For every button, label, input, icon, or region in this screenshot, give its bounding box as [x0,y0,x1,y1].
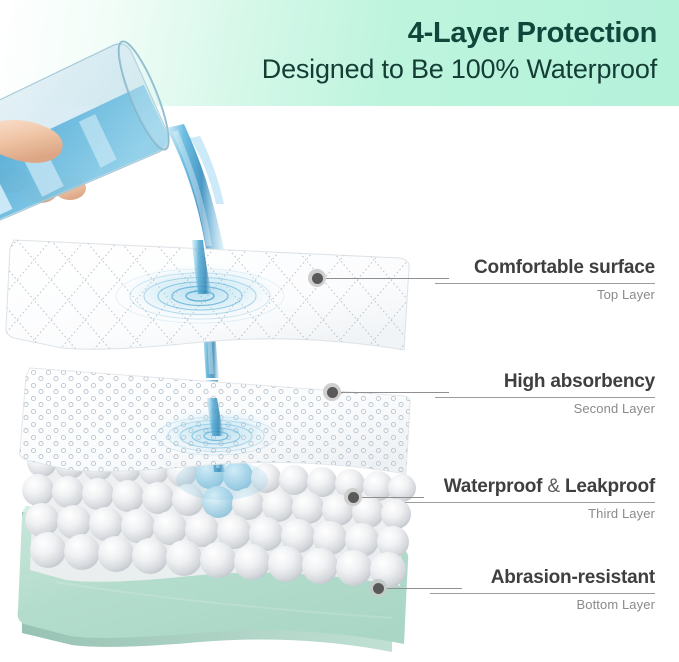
callout-bottom-layer: Abrasion-resistant Bottom Layer [430,566,655,613]
page-title: 4-Layer Protection [408,17,657,50]
callout-top-layer: Comfortable surface Top Layer [435,256,655,303]
callout-title-top-layer: Comfortable surface [435,256,655,279]
callout-title-bottom-layer: Abrasion-resistant [430,566,655,589]
callout-divider [405,502,655,503]
callout-divider [435,397,655,398]
callout-dot-third-layer[interactable] [344,488,362,506]
callout-title-third-layer-part1: Waterproof [444,476,548,497]
leader-line-second-layer [341,392,449,393]
four-layer-exploded-diagram [0,200,430,657]
hand-thumb [0,120,63,163]
callout-divider [435,283,655,284]
callout-sublabel-bottom-layer: Bottom Layer [430,597,655,613]
page-subtitle: Designed to Be 100% Waterproof [262,54,657,85]
layer-top-comfortable-surface [6,240,409,350]
layer-second-high-absorbency [20,368,411,474]
callout-sublabel-third-layer: Third Layer [405,506,655,522]
callout-sublabel-top-layer: Top Layer [435,287,655,303]
callout-divider [430,593,655,594]
callout-title-third-layer-part2: Leakproof [560,476,655,497]
callout-dot-bottom-layer[interactable] [369,579,387,597]
callout-dot-second-layer[interactable] [323,383,341,401]
header-banner: 4-Layer Protection Designed to Be 100% W… [0,0,679,106]
callout-title-third-layer: Waterproof & Leakproof [405,475,655,498]
hand-fingers-back [0,167,86,203]
callout-title-second-layer: High absorbency [435,370,655,393]
leader-line-top-layer [326,278,449,279]
callout-second-layer: High absorbency Second Layer [435,370,655,417]
ampersand-glyph: & [547,476,559,497]
callout-third-layer: Waterproof & Leakproof Third Layer [405,475,655,522]
callout-sublabel-second-layer: Second Layer [435,401,655,417]
callout-dot-top-layer[interactable] [308,269,326,287]
